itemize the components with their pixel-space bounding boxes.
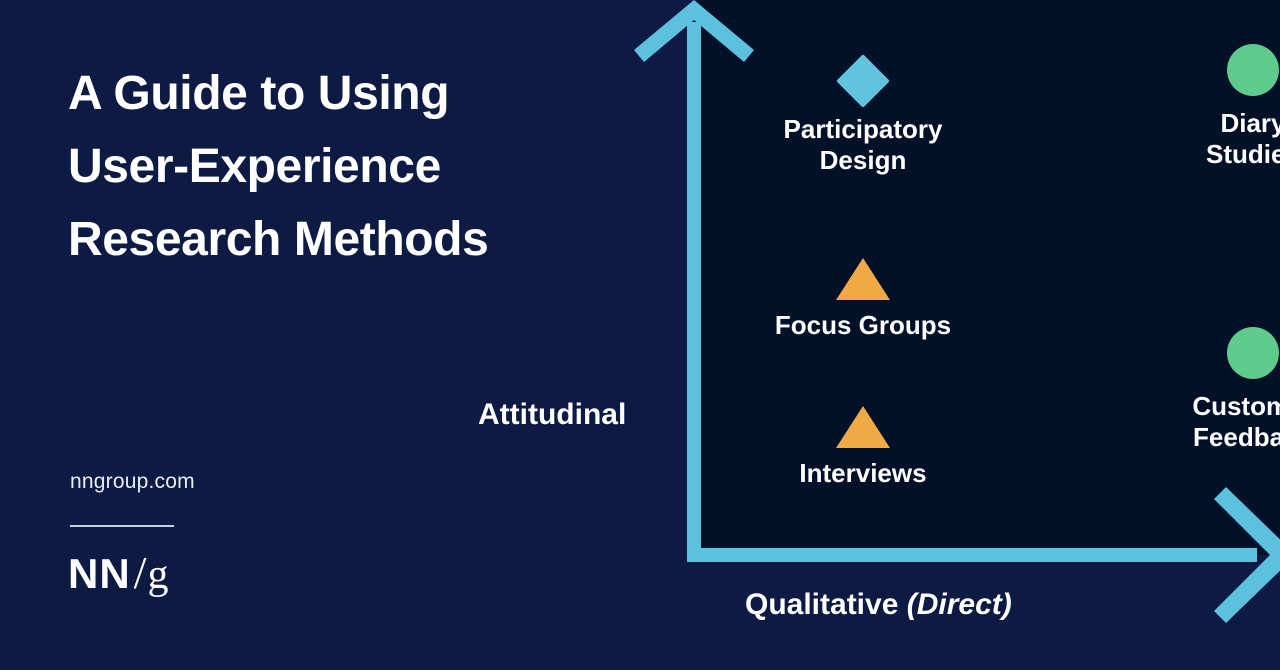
circle-marker-icon <box>1227 44 1279 96</box>
data-point-label: Diary <box>1145 108 1280 139</box>
triangle-marker-icon <box>836 258 890 300</box>
data-point-focus-groups[interactable]: Focus Groups <box>733 258 993 341</box>
x-axis-line <box>687 548 1257 562</box>
infographic-canvas: A Guide to Using User-Experience Researc… <box>0 0 1280 670</box>
arrow-up-icon <box>630 0 758 62</box>
arrow-right-icon <box>1212 487 1280 623</box>
data-point-customer-feedback[interactable]: Customer Feedback <box>1145 327 1280 452</box>
title-line-3: Research Methods <box>68 204 628 277</box>
nng-logo[interactable]: NN / g <box>68 546 168 599</box>
brand-divider <box>70 525 174 527</box>
data-point-participatory-design[interactable]: Participatory Design <box>733 62 993 175</box>
data-point-interviews[interactable]: Interviews <box>733 406 993 489</box>
x-axis-label: Qualitative (Direct) <box>745 588 1012 622</box>
data-point-label-2: Feedback <box>1145 422 1280 453</box>
data-point-label-2: Studies <box>1145 139 1280 170</box>
title-line-1: A Guide to Using <box>68 58 628 131</box>
x-axis-label-main: Qualitative <box>745 588 898 621</box>
data-point-label: Focus Groups <box>733 310 993 341</box>
data-point-label-2: Design <box>733 145 993 176</box>
y-axis-label: Attitudinal <box>478 398 626 432</box>
logo-slash-text: / <box>134 546 147 599</box>
data-point-label: Participatory <box>733 114 993 145</box>
logo-g-text: g <box>147 551 168 599</box>
data-point-label: Customer <box>1145 391 1280 422</box>
diamond-marker-icon <box>836 54 890 108</box>
site-url[interactable]: nngroup.com <box>70 470 195 494</box>
data-point-label: Interviews <box>733 458 993 489</box>
title-line-2: User-Experience <box>68 131 628 204</box>
page-title: A Guide to Using User-Experience Researc… <box>68 58 628 277</box>
x-axis-label-qualifier: (Direct) <box>907 588 1012 621</box>
data-point-diary-studies[interactable]: Diary Studies <box>1145 44 1280 169</box>
triangle-marker-icon <box>836 406 890 448</box>
circle-marker-icon <box>1227 327 1279 379</box>
logo-nn-text: NN <box>68 550 131 598</box>
y-axis-line <box>687 22 701 562</box>
